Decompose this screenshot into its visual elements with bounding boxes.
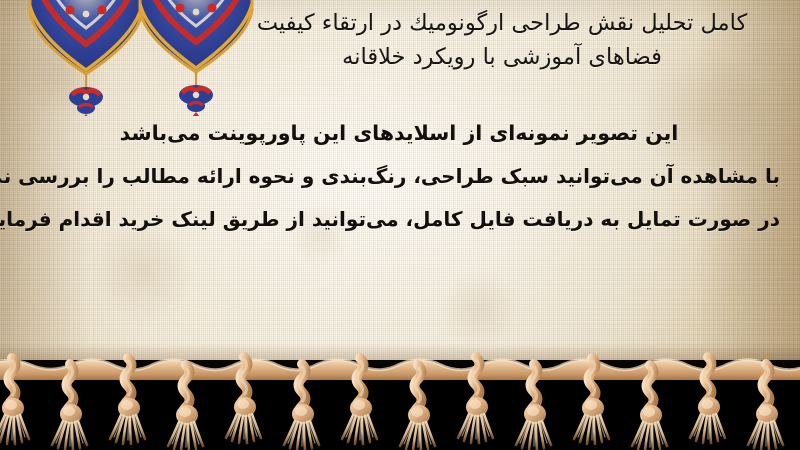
body-line-3: در صورت تمایل به دریافت فایل کامل، می‌تو…	[18, 198, 780, 241]
slide-body-text: این تصویر نمونه‌ای از اسلایدهای این پاور…	[18, 112, 780, 241]
slide-title-line-2: فضاهای آموزشی با رویکرد خلاقانه	[222, 40, 782, 74]
slide-title-line-1: کامل تحلیل نقش طراحی ارگونومیك در ارتقاء…	[222, 6, 782, 40]
persian-medallion-icon	[22, 0, 150, 116]
body-line-2: با مشاهده آن می‌توانید سبک طراحی، رنگ‌بن…	[18, 155, 780, 198]
body-line-1: این تصویر نمونه‌ای از اسلایدهای این پاور…	[18, 112, 780, 155]
persian-medallion-ornament-left	[22, 0, 150, 120]
slide-title: کامل تحلیل نقش طراحی ارگونومیك در ارتقاء…	[222, 6, 782, 74]
tassel-fringe	[0, 352, 800, 450]
presentation-slide: کامل تحلیل نقش طراحی ارگونومیك در ارتقاء…	[0, 0, 800, 450]
